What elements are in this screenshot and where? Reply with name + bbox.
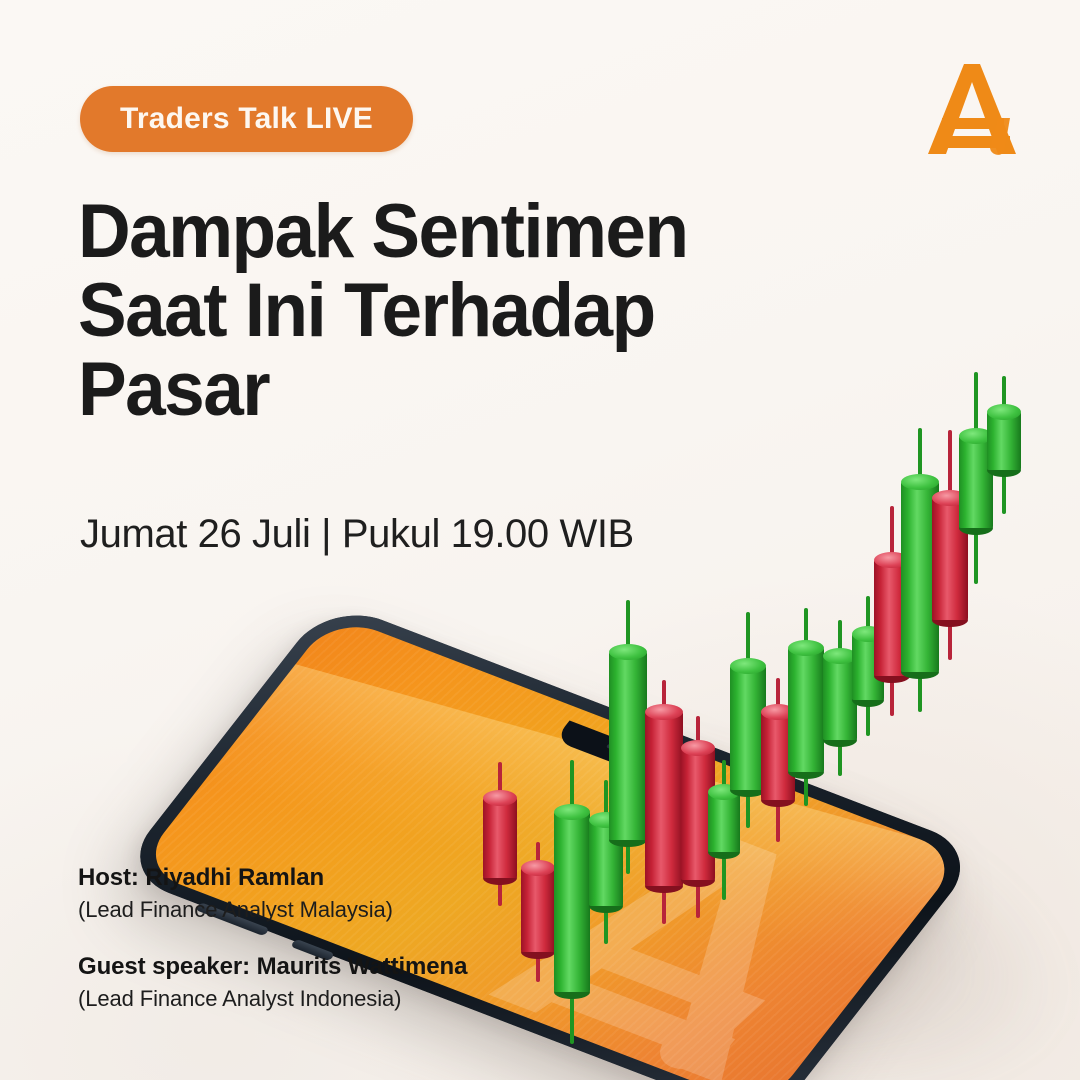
guest-name: Guest speaker: Maurits Wattimena xyxy=(78,951,467,982)
schedule-text: Jumat 26 Juli | Pukul 19.00 WIB xyxy=(80,512,634,557)
host-credit: Host: Riyadhi Ramlan (Lead Finance Analy… xyxy=(78,862,467,925)
speaker-credits: Host: Riyadhi Ramlan (Lead Finance Analy… xyxy=(78,862,467,1014)
live-badge-label: Traders Talk LIVE xyxy=(120,102,373,136)
host-name: Host: Riyadhi Ramlan xyxy=(78,862,467,893)
promo-poster: Traders Talk LIVE Dampak Sentimen Saat I… xyxy=(0,0,1080,1080)
live-badge: Traders Talk LIVE xyxy=(80,86,413,152)
guest-credit: Guest speaker: Maurits Wattimena (Lead F… xyxy=(78,951,467,1014)
octa-a-logo-icon xyxy=(920,58,1024,164)
page-title: Dampak Sentimen Saat Ini Terhadap Pasar xyxy=(78,192,769,429)
guest-role: (Lead Finance Analyst Indonesia) xyxy=(78,984,467,1014)
host-role: (Lead Finance Analyst Malaysia) xyxy=(78,895,467,925)
